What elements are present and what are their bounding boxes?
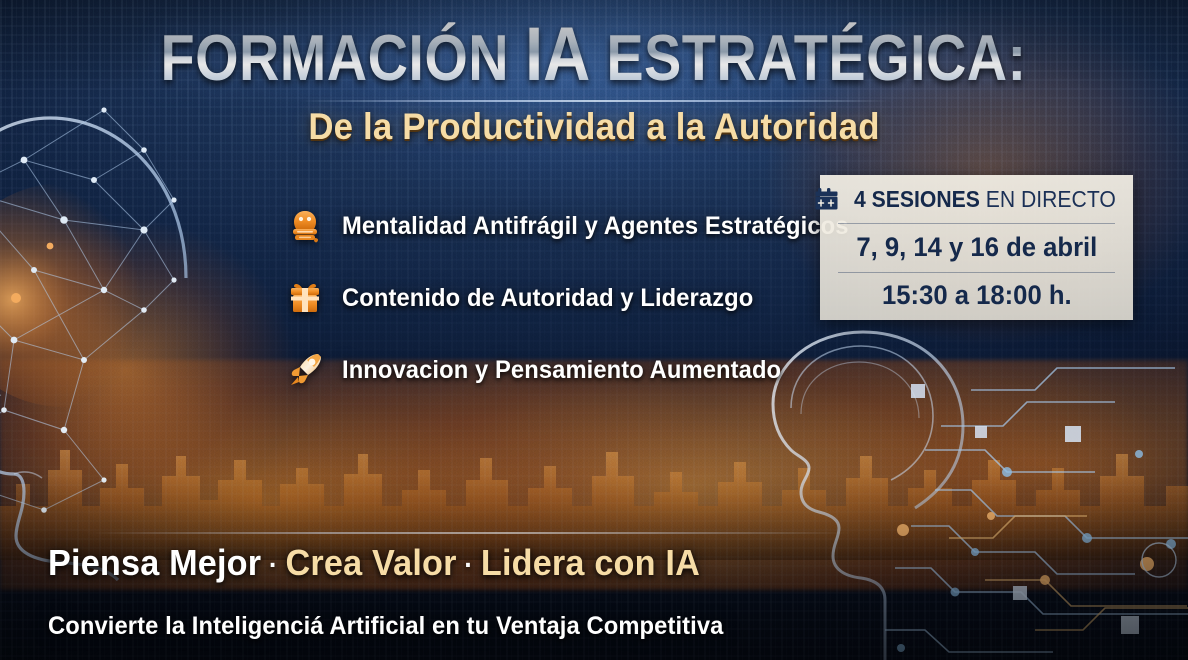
slogan-item-3: Lidera con IA: [481, 542, 700, 583]
promo-banner: FORMACIÓN IA ESTRATÉGICA: De la Producti…: [0, 0, 1188, 660]
light-sweep-divider: [90, 532, 850, 534]
tagline: Convierte la Inteligenciá Artificial en …: [48, 612, 723, 641]
slogan-line: Piensa Mejor·Crea Valor·Lidera con IA: [48, 542, 700, 584]
slogan-separator-2: ·: [457, 549, 481, 580]
slogan-separator-1: ·: [261, 549, 285, 580]
slogan-item-2: Crea Valor: [286, 542, 457, 583]
slogan-item-1: Piensa Mejor: [48, 542, 261, 583]
